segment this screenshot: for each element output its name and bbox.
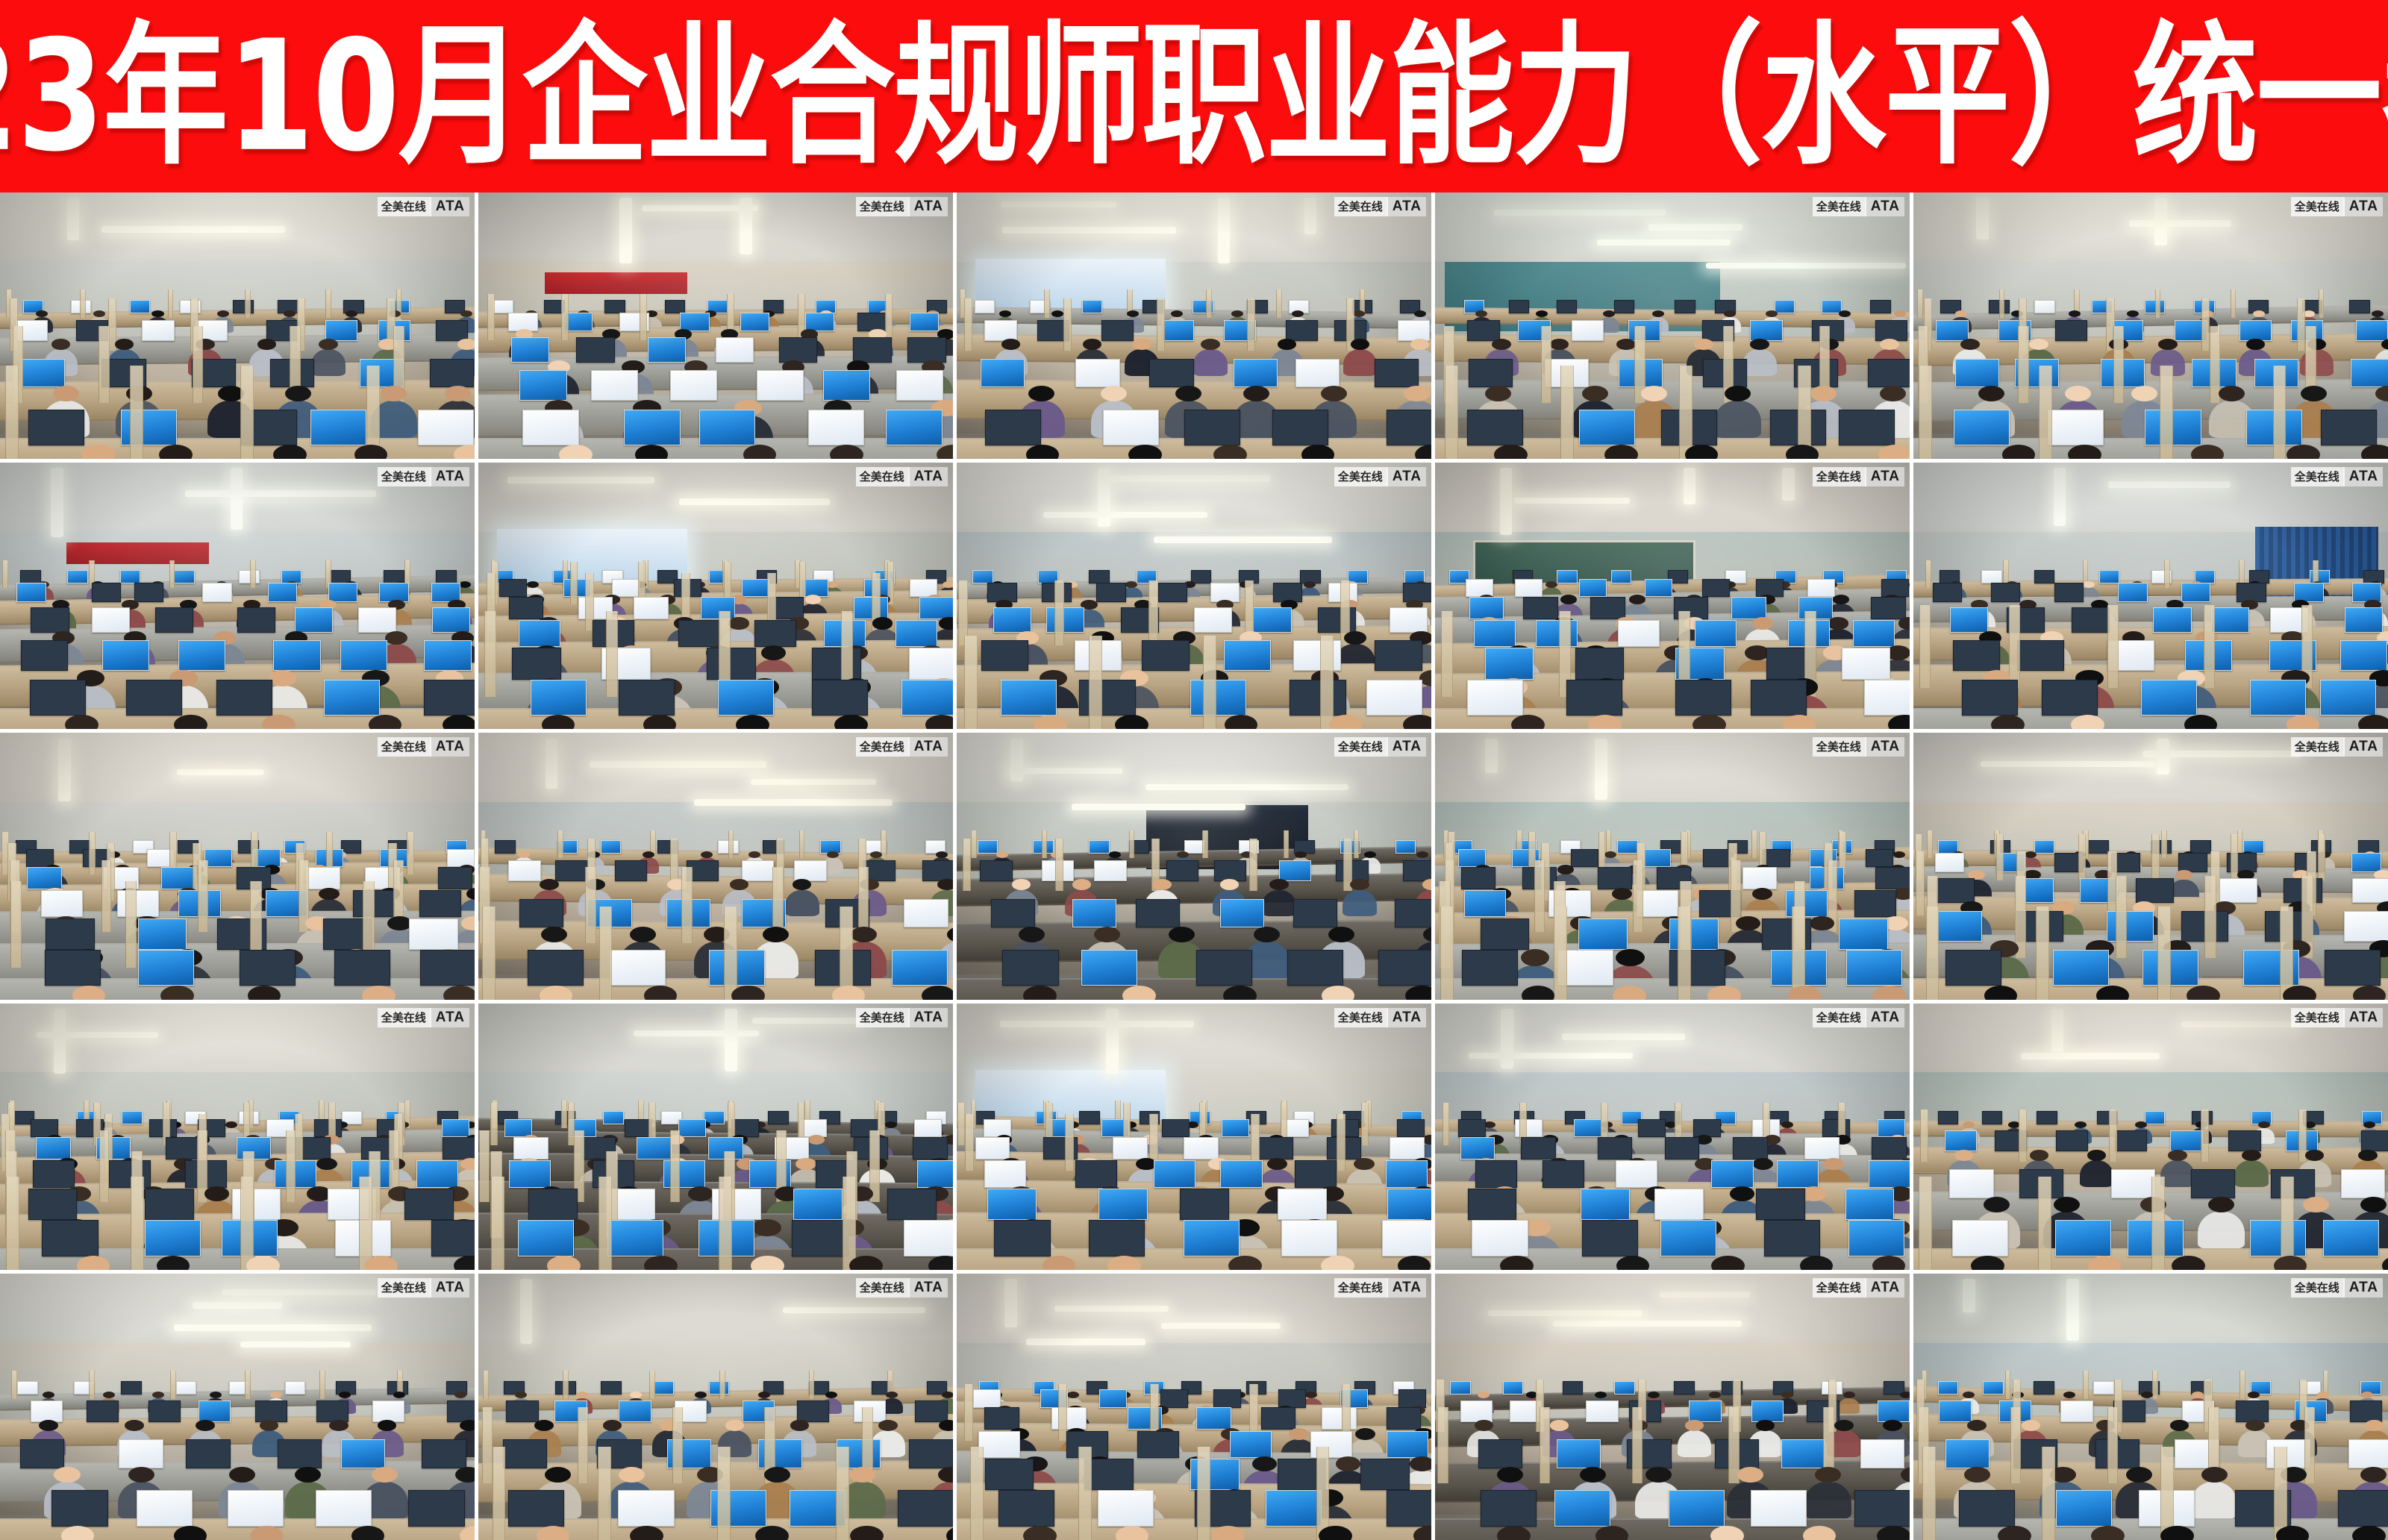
monitor (233, 300, 253, 313)
monitor (1574, 1119, 1601, 1137)
monitor (601, 840, 621, 854)
ceiling-light (725, 1009, 737, 1071)
ceiling-light (193, 1302, 282, 1309)
person (2234, 1160, 2269, 1187)
booth-partition (479, 1130, 490, 1202)
monitor (1222, 1119, 1249, 1137)
monitor (178, 640, 225, 671)
grid-cell[interactable]: 全美在线ATA1280X7202023-10-14 09:19:53 (478, 733, 953, 999)
monitor (2236, 1400, 2268, 1421)
monitor (1764, 1220, 1820, 1256)
monitor (1184, 1137, 1219, 1159)
person-head (1128, 445, 1162, 459)
monitor (857, 313, 887, 332)
monitor (987, 1189, 1037, 1220)
monitor (513, 1137, 548, 1159)
monitor (1460, 1400, 1492, 1421)
booth-partition (240, 366, 254, 459)
monitor (340, 640, 387, 671)
header-banner: 2023年10月企业合规师职业能力（水平）统一考试 (0, 0, 2388, 192)
booth-partition (672, 1407, 684, 1484)
person-head (2358, 1150, 2378, 1161)
monitor (909, 648, 953, 679)
ceiling-light (231, 468, 243, 530)
monitor (509, 1160, 551, 1187)
booth-partition (1443, 1103, 1450, 1145)
monitor (984, 320, 1016, 341)
person-head (128, 1467, 154, 1483)
person-head (1588, 715, 1622, 729)
monitor (138, 950, 194, 986)
ceiling-light (1660, 1292, 1749, 1298)
grid-cell[interactable]: 全美在线ATA1280X7202023-10-14 09:07:50 (478, 1274, 953, 1540)
monitor (1868, 359, 1910, 387)
monitor (316, 1490, 372, 1526)
monitor (237, 607, 275, 632)
booth-partition (359, 1177, 372, 1270)
monitor (984, 1407, 1019, 1430)
booth-partition (1361, 1103, 1369, 1145)
monitor (1983, 1381, 2003, 1395)
monitor (2115, 1130, 2147, 1151)
monitor (1515, 579, 1542, 597)
monitor (1614, 1381, 1634, 1395)
monitor (1142, 640, 1189, 671)
person-head (542, 715, 575, 729)
grid-cell[interactable]: 全美在线ATA1280X7202023-10-14 09:05:11 (1913, 192, 2388, 459)
monitor (2017, 640, 2064, 671)
monitor (36, 1137, 71, 1159)
person-head (81, 445, 115, 459)
ceiling-light (507, 477, 655, 483)
monitor (436, 320, 468, 341)
booth-partition (2042, 1447, 2055, 1540)
booth-partition (570, 562, 578, 604)
ata-watermark: 全美在线ATA (856, 1278, 948, 1298)
booth-partition (843, 1177, 856, 1270)
booth-partition (1441, 611, 1453, 698)
monitor (2352, 878, 2388, 903)
monitor (1273, 583, 1302, 602)
scene-wide-white-lab (1913, 1004, 2388, 1270)
monitor (1563, 1381, 1583, 1395)
grid-cell[interactable]: 全美在线ATA1280X7202023-10-14 09:11:15 (1435, 1274, 1910, 1540)
monitor (1072, 899, 1116, 927)
ceiling-light (2054, 468, 2066, 525)
monitor (508, 1490, 564, 1526)
ceiling-light (1000, 1021, 1194, 1027)
watermark-cn-text: 全美在线 (1813, 197, 1865, 216)
grid-cell[interactable]: 全美在线ATA1280X7202023-10-14 09:17:34 (1913, 1274, 2388, 1540)
person-head (736, 715, 769, 729)
monitor (975, 1137, 1010, 1159)
person-head (1786, 445, 1819, 459)
person-head (1295, 851, 1307, 858)
scene-large-hall-booths-dim (0, 192, 475, 459)
monitor (615, 860, 647, 881)
ceiling-light (752, 1018, 865, 1024)
person-head (942, 1392, 953, 1398)
booth-partition (585, 867, 596, 944)
monitor (1224, 640, 1271, 671)
person-head (1750, 339, 1769, 350)
person-head (229, 1467, 255, 1483)
grid-cell[interactable]: 全美在线ATA1280X7202023-10-14 09:17:53 (957, 733, 1431, 999)
monitor (1643, 849, 1671, 867)
monitor (1278, 1389, 1306, 1407)
person-head (851, 927, 877, 942)
person-head (1497, 1526, 1531, 1540)
monitor (316, 1400, 348, 1421)
person-head (1815, 1467, 1841, 1483)
monitor (1079, 1111, 1099, 1124)
monitor (2107, 911, 2154, 942)
watermark-ata-logo: ATA (908, 1278, 948, 1298)
ceiling-light (1010, 768, 1122, 774)
booth-partition (286, 1130, 296, 1202)
monitor (45, 950, 101, 986)
monitor (768, 1111, 788, 1124)
ata-watermark: 全美在线ATA (1813, 1008, 1904, 1027)
person-head (790, 1420, 810, 1431)
monitor (1878, 1400, 1910, 1421)
booth-partition (2231, 289, 2237, 318)
booth-partition (80, 289, 86, 318)
grid-cell[interactable]: 全美在线ATA1280X7202023-10-14 09:10:01 (0, 1274, 475, 1540)
person-head (1545, 581, 1557, 588)
monitor (1579, 579, 1607, 597)
monitor (2170, 1130, 2202, 1151)
monitor (1089, 1220, 1145, 1256)
person-head (1616, 339, 1636, 350)
watermark-cn-text: 全美在线 (2291, 197, 2343, 216)
person-head (644, 1256, 678, 1270)
person-head (115, 339, 134, 350)
monitor (984, 1160, 1026, 1187)
monitor (2034, 840, 2054, 854)
booth-partition (319, 1371, 325, 1399)
monitor (678, 620, 720, 647)
monitor (1278, 1189, 1327, 1220)
grid-cell[interactable]: 全美在线ATA1280X7202023-10-14 09:14:23 (478, 1004, 953, 1270)
person-head (1344, 631, 1366, 645)
monitor (1937, 878, 1975, 903)
monitor (1598, 867, 1633, 889)
watermark-ata-logo: ATA (908, 197, 948, 216)
watermark-cn-text: 全美在线 (856, 197, 908, 216)
monitor (1578, 918, 1628, 950)
monitor (1398, 320, 1430, 341)
monitor (1848, 1220, 1904, 1256)
monitor (176, 1381, 196, 1395)
ceiling-light (634, 1030, 759, 1037)
person-head (2287, 715, 2320, 729)
monitor (754, 620, 796, 647)
monitor (145, 1220, 201, 1256)
monitor (1756, 1189, 1805, 1220)
scene-white-partition-hall (0, 1004, 475, 1270)
booth-partition (1129, 830, 1135, 859)
ceiling-light (185, 490, 376, 497)
ceiling-light (1782, 468, 1795, 501)
watermark-cn-text: 全美在线 (1813, 1008, 1865, 1027)
monitor (1991, 583, 2020, 602)
ceiling-light (1106, 1009, 1119, 1074)
monitor (1468, 1189, 1517, 1220)
watermark-ata-logo: ATA (1387, 1278, 1426, 1298)
monitor (28, 410, 84, 445)
ceiling-light (1072, 804, 1245, 810)
monitor (915, 1400, 947, 1421)
booth-partition (1919, 605, 1931, 688)
monitor (2111, 1169, 2155, 1198)
person-head (1301, 445, 1335, 459)
person-head (1880, 339, 1899, 350)
monitor (1160, 1389, 1188, 1407)
person-head (2071, 715, 2104, 729)
person-head (1580, 1467, 1606, 1483)
monitor (898, 1490, 953, 1526)
monitor (1955, 359, 1999, 387)
grid-cell[interactable]: 全美在线ATA1280X7202023-10-14 09:09:00 (957, 1274, 1431, 1540)
grid-cell[interactable]: 全美在线ATA1280X7202023-10-14 09:09:55 (0, 733, 475, 999)
monitor (1864, 680, 1910, 716)
booth-partition (1202, 830, 1208, 859)
ata-watermark: 全美在线ATA (856, 737, 948, 757)
person-head (527, 581, 539, 588)
person-head (2083, 581, 2095, 588)
scene-teal-wall-classroom (1435, 192, 1910, 459)
ata-watermark: 全美在线ATA (378, 737, 469, 757)
person-head (643, 851, 654, 858)
booth-partition (2005, 1371, 2011, 1399)
person-head (755, 1526, 789, 1540)
grid-cell[interactable]: 全美在线ATA1280X7202023-10-14 09:19:33 (0, 463, 475, 729)
booth-partition (5, 366, 19, 459)
person-head (385, 631, 407, 645)
grid-cell[interactable]: 全美在线ATA1280X7202023-10-14 09:03:57 (1913, 463, 2388, 729)
monitor (1870, 300, 1890, 313)
person-head (1319, 1526, 1352, 1540)
grid-cell[interactable]: 全美在线ATA1280X7202023-10-14 09:11:16 (478, 463, 953, 729)
monitor (1945, 1439, 1990, 1468)
monitor (2118, 583, 2147, 602)
monitor (1234, 359, 1278, 387)
person-head (2365, 1420, 2384, 1431)
ceiling-light (619, 198, 632, 263)
monitor (2340, 640, 2387, 671)
monitor (1575, 648, 1625, 679)
watermark-cn-text: 全美在线 (2291, 737, 2343, 757)
monitor (1154, 1160, 1195, 1187)
watermark-ata-logo: ATA (2343, 737, 2383, 757)
person-head (1730, 1186, 1754, 1201)
grid-cell[interactable]: 全美在线ATA1280X7202023-10-14 09:30:55 (1435, 463, 1910, 729)
ceiling-light (58, 739, 71, 802)
person-head (1475, 1420, 1494, 1431)
ata-watermark: 全美在线ATA (1334, 1008, 1426, 1027)
monitor (917, 1160, 953, 1187)
person-head (262, 715, 296, 729)
monitor (92, 607, 130, 632)
monitor (134, 583, 163, 602)
grid-cell[interactable]: 全美在线ATA1280X7202023-10-14 09:19:20 (0, 192, 475, 459)
grid-cell[interactable]: 全美在线ATA1280X7202023-10-14 09:17:46 (957, 463, 1431, 729)
monitor (892, 950, 948, 986)
ceiling-light (1981, 761, 2156, 768)
booth-partition (1926, 907, 1940, 1000)
monitor (92, 583, 121, 602)
person-head (460, 1420, 475, 1431)
monitor (994, 1220, 1050, 1256)
monitor (166, 1137, 201, 1159)
monitor (904, 899, 948, 927)
person-head (1685, 445, 1719, 459)
booth-partition (1354, 830, 1360, 859)
booth-partition (490, 1103, 498, 1145)
monitor (618, 1490, 674, 1526)
booth-partition (681, 867, 693, 944)
watermark-ata-logo: ATA (1865, 197, 1904, 216)
monitor (1184, 1220, 1240, 1256)
person-head (125, 1420, 144, 1431)
booth-partition (2078, 834, 2086, 880)
monitor (797, 1400, 829, 1421)
monitor (1509, 300, 1529, 313)
person-head (329, 1420, 348, 1431)
monitor (442, 1119, 469, 1137)
booth-partition (1058, 1384, 1067, 1442)
monitor (1481, 918, 1530, 950)
person-head (257, 339, 277, 350)
person-head (1833, 595, 1849, 604)
monitor (1180, 1189, 1229, 1220)
booth-partition (717, 1447, 731, 1540)
monitor (1190, 680, 1246, 716)
monitor (1571, 849, 1598, 867)
monitor (1875, 320, 1907, 341)
person-head (1963, 1392, 1975, 1398)
person-head (2201, 1467, 2228, 1483)
grid-cell[interactable]: 全美在线ATA1280X7202023-10-14 09:13:48 (1435, 733, 1910, 999)
booth-partition (6, 1177, 19, 1270)
grid-cell[interactable]: 全美在线ATA1280X7202023-10-14 09:18:07 (478, 192, 953, 459)
monitor (2034, 300, 2054, 313)
ceiling-light (783, 1307, 925, 1314)
scene-blue-curtain-lab (1913, 463, 2388, 729)
person-head (936, 851, 948, 858)
monitor (919, 597, 953, 619)
monitor (1191, 570, 1211, 583)
monitor (186, 1439, 230, 1468)
person-head (1328, 927, 1354, 942)
booth-partition (2107, 1407, 2119, 1484)
person-head (1557, 865, 1574, 874)
person-head (1228, 1256, 1262, 1270)
monitor (506, 1400, 538, 1421)
booth-partition (125, 881, 137, 968)
booth-partition (10, 881, 22, 968)
monitor (161, 867, 196, 889)
grid-cell[interactable]: 全美在线ATA1280X7202023-10-14 09:06:38 (1913, 733, 2388, 999)
monitor (87, 1400, 119, 1421)
scene-green-board-classroom (1435, 463, 1910, 729)
monitor (1075, 1160, 1117, 1187)
person-head (2246, 339, 2266, 350)
watermark-ata-logo: ATA (430, 737, 469, 757)
ceiling-light (2108, 481, 2230, 488)
booth-partition (561, 1101, 567, 1129)
monitor (420, 950, 475, 986)
monitor (416, 1160, 458, 1187)
ceiling-light (240, 1342, 351, 1348)
grid-cell[interactable]: 全美在线ATA1280X7202023-10-14 09:13:09 (0, 1004, 475, 1270)
monitor (812, 680, 868, 716)
grid-cell[interactable]: 全美在线ATA1280X7202023-10-14 09:17:39 (957, 192, 1431, 459)
monitor (1566, 680, 1622, 716)
ceiling-light (1595, 739, 1607, 800)
monitor (634, 597, 669, 619)
monitor (2141, 680, 2197, 716)
monitor (975, 300, 995, 313)
monitor (1360, 1459, 1410, 1490)
ceiling-light (1976, 198, 1989, 240)
monitor (1403, 583, 1431, 602)
grid-cell[interactable]: 全美在线ATA1280X7202023-10-14 09:04:49 (1435, 1004, 1910, 1270)
monitor (2072, 607, 2110, 632)
person-head (2352, 1526, 2386, 1540)
scene-bright-classroom-front (478, 463, 953, 729)
booth-partition (1042, 830, 1048, 859)
monitor (808, 410, 864, 445)
person-head (1267, 1158, 1287, 1170)
watermark-ata-logo: ATA (1387, 1008, 1426, 1027)
person-head (2054, 1197, 2080, 1212)
booth-partition (407, 832, 414, 874)
ceiling-light (1500, 468, 1513, 535)
ceiling-light (2154, 198, 2167, 245)
monitor (232, 1189, 281, 1220)
monitor (1098, 1189, 1148, 1220)
scene-side-angle-lab (957, 463, 1431, 729)
monitor (1403, 860, 1431, 881)
booth-partition (2, 560, 8, 589)
ceiling-light (740, 198, 752, 254)
grid-cell[interactable]: 全美在线ATA1280X7202023-10-14 09:11:10 (1913, 1004, 2388, 1270)
booth-partition (1337, 1114, 1345, 1171)
booth-partition (2018, 326, 2029, 403)
monitor (1669, 1490, 1725, 1526)
monitor (1378, 950, 1431, 986)
monitor (1733, 1137, 1768, 1159)
person-head (1898, 617, 1910, 629)
monitor (431, 1220, 475, 1256)
monitor (285, 1381, 305, 1395)
grid-cell[interactable]: 全美在线ATA1280X7202023-10-14 09:08:16 (1435, 192, 1910, 459)
booth-partition (2151, 834, 2159, 880)
booth-partition (193, 326, 204, 403)
watermark-cn-text: 全美在线 (856, 1008, 908, 1027)
person-head (1492, 339, 1511, 350)
monitor (2341, 1169, 2385, 1198)
person-head (728, 617, 748, 629)
grid-cell[interactable]: 全美在线ATA1280X7202023-10-14 09:11:11 (957, 1004, 1431, 1270)
monitor (2294, 583, 2323, 602)
booth-partition (2116, 876, 2127, 959)
person-head (2170, 1420, 2189, 1431)
monitor (1467, 320, 1499, 341)
ata-watermark: 全美在线ATA (2291, 197, 2383, 216)
